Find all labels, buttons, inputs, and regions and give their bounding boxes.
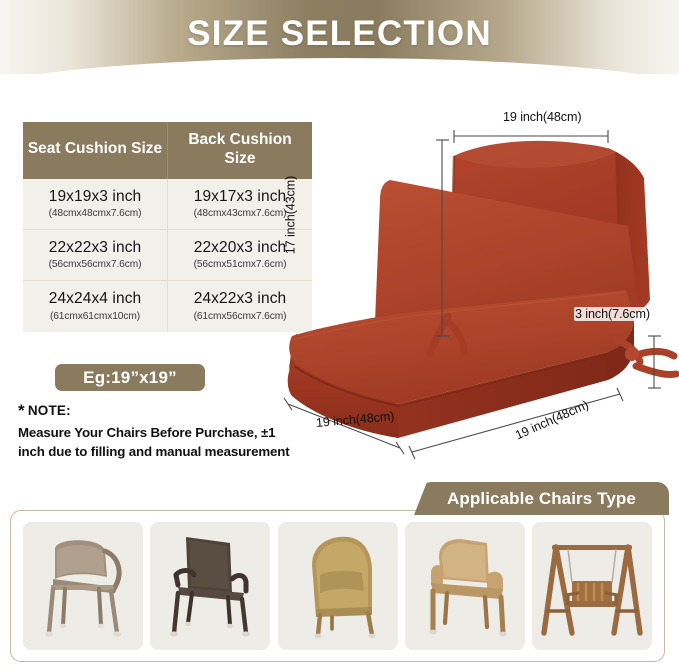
asterisk-icon: * bbox=[18, 401, 25, 420]
seat-size-inch: 22x22x3 inch bbox=[26, 239, 164, 257]
dark-brown-wicker-armchair-icon bbox=[158, 529, 262, 643]
page-title: SIZE SELECTION bbox=[0, 14, 679, 54]
applicable-chairs-label: Applicable Chairs Type bbox=[447, 489, 636, 509]
table-row: 24x24x4 inch (61cmx61cmx10cm) 24x22x3 in… bbox=[23, 281, 312, 332]
seat-size-cell: 22x22x3 inch (56cmx56cmx7.6cm) bbox=[23, 230, 168, 281]
applicable-chairs-panel bbox=[10, 510, 665, 662]
note-heading: *NOTE: bbox=[18, 402, 303, 421]
wooden-porch-swing-icon bbox=[538, 529, 646, 643]
note-body: Measure Your Chairs Before Purchase, ±1 … bbox=[18, 424, 303, 462]
table-header-row: Seat Cushion Size Back Cushion Size bbox=[23, 122, 312, 179]
round-back-wicker-stacking-chair-icon bbox=[31, 529, 135, 643]
note-block: *NOTE: Measure Your Chairs Before Purcha… bbox=[18, 402, 303, 461]
seat-size-cell: 24x24x4 inch (61cmx61cmx10cm) bbox=[23, 281, 168, 332]
seat-size-cell: 19x19x3 inch (48cmx48cmx7.6cm) bbox=[23, 179, 168, 230]
dimension-back-width: 19 inch(48cm) bbox=[503, 110, 582, 124]
seat-size-inch: 19x19x3 inch bbox=[26, 188, 164, 206]
table-row: 22x22x3 inch (56cmx56cmx7.6cm) 22x20x3 i… bbox=[23, 230, 312, 281]
column-header-seat-cushion-size: Seat Cushion Size bbox=[23, 122, 168, 179]
dimension-seat-thickness: 3 inch(7.6cm) bbox=[574, 307, 651, 321]
seat-size-cm: (48cmx48cmx7.6cm) bbox=[26, 208, 164, 219]
example-size-badge: Eg:19”x19” bbox=[55, 364, 205, 391]
chair-thumbnail-seagrass-rattan-armchair bbox=[405, 522, 525, 650]
size-table: Seat Cushion Size Back Cushion Size 19x1… bbox=[23, 122, 312, 332]
seat-size-inch: 24x24x4 inch bbox=[26, 290, 164, 308]
seat-size-cm: (56cmx56cmx7.6cm) bbox=[26, 259, 164, 270]
cushion-illustration: 19 inch(48cm) 17 inch(43cm) 3 inch(7.6cm… bbox=[278, 104, 679, 476]
chair-thumbnail-dark-brown-wicker-armchair bbox=[150, 522, 270, 650]
seat-size-cm: (61cmx61cmx10cm) bbox=[26, 311, 164, 322]
chair-thumbnail-tan-wicker-barrel-chair bbox=[278, 522, 398, 650]
dimension-back-height: 17 inch(43cm) bbox=[283, 176, 297, 255]
tie-knot bbox=[625, 347, 639, 361]
chair-thumbnail-round-back-wicker-stacking-chair bbox=[23, 522, 143, 650]
seagrass-rattan-armchair-icon bbox=[413, 529, 517, 643]
chair-thumbnail-wooden-porch-swing bbox=[532, 522, 652, 650]
note-heading-label: NOTE: bbox=[28, 403, 71, 418]
applicable-chairs-tab: Applicable Chairs Type bbox=[414, 482, 669, 515]
tan-wicker-barrel-chair-icon bbox=[286, 529, 390, 643]
table-row: 19x19x3 inch (48cmx48cmx7.6cm) 19x17x3 i… bbox=[23, 179, 312, 230]
